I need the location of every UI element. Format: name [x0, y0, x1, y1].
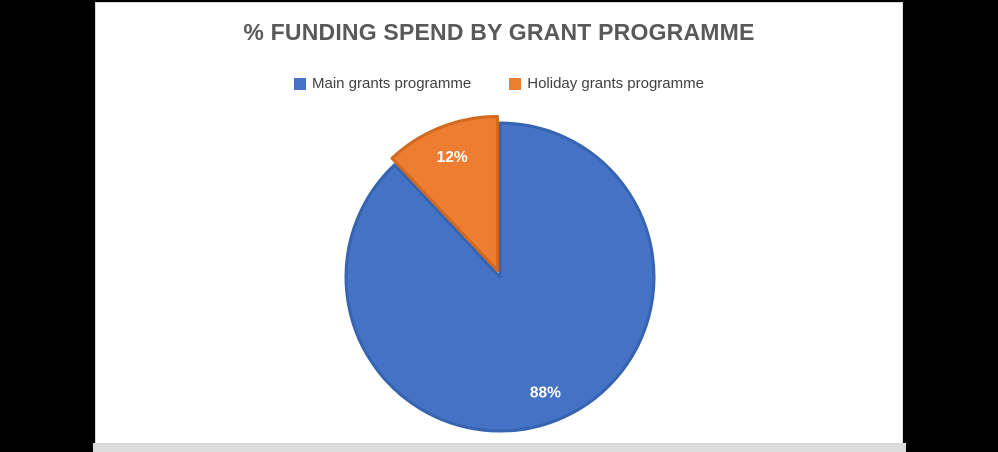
left-black-band — [0, 0, 93, 452]
pie-chart-plot: 88% 12% — [96, 3, 902, 443]
pie-slice-label-88: 88% — [530, 385, 561, 402]
screen: % FUNDING SPEND BY GRANT PROGRAMME Main … — [0, 0, 998, 452]
pie-slice-label-12: 12% — [437, 149, 468, 166]
right-black-band — [906, 0, 998, 452]
pie-slice-main-grants[interactable] — [346, 123, 654, 431]
page-background-strip — [93, 443, 906, 452]
chart-card: % FUNDING SPEND BY GRANT PROGRAMME Main … — [95, 2, 903, 444]
